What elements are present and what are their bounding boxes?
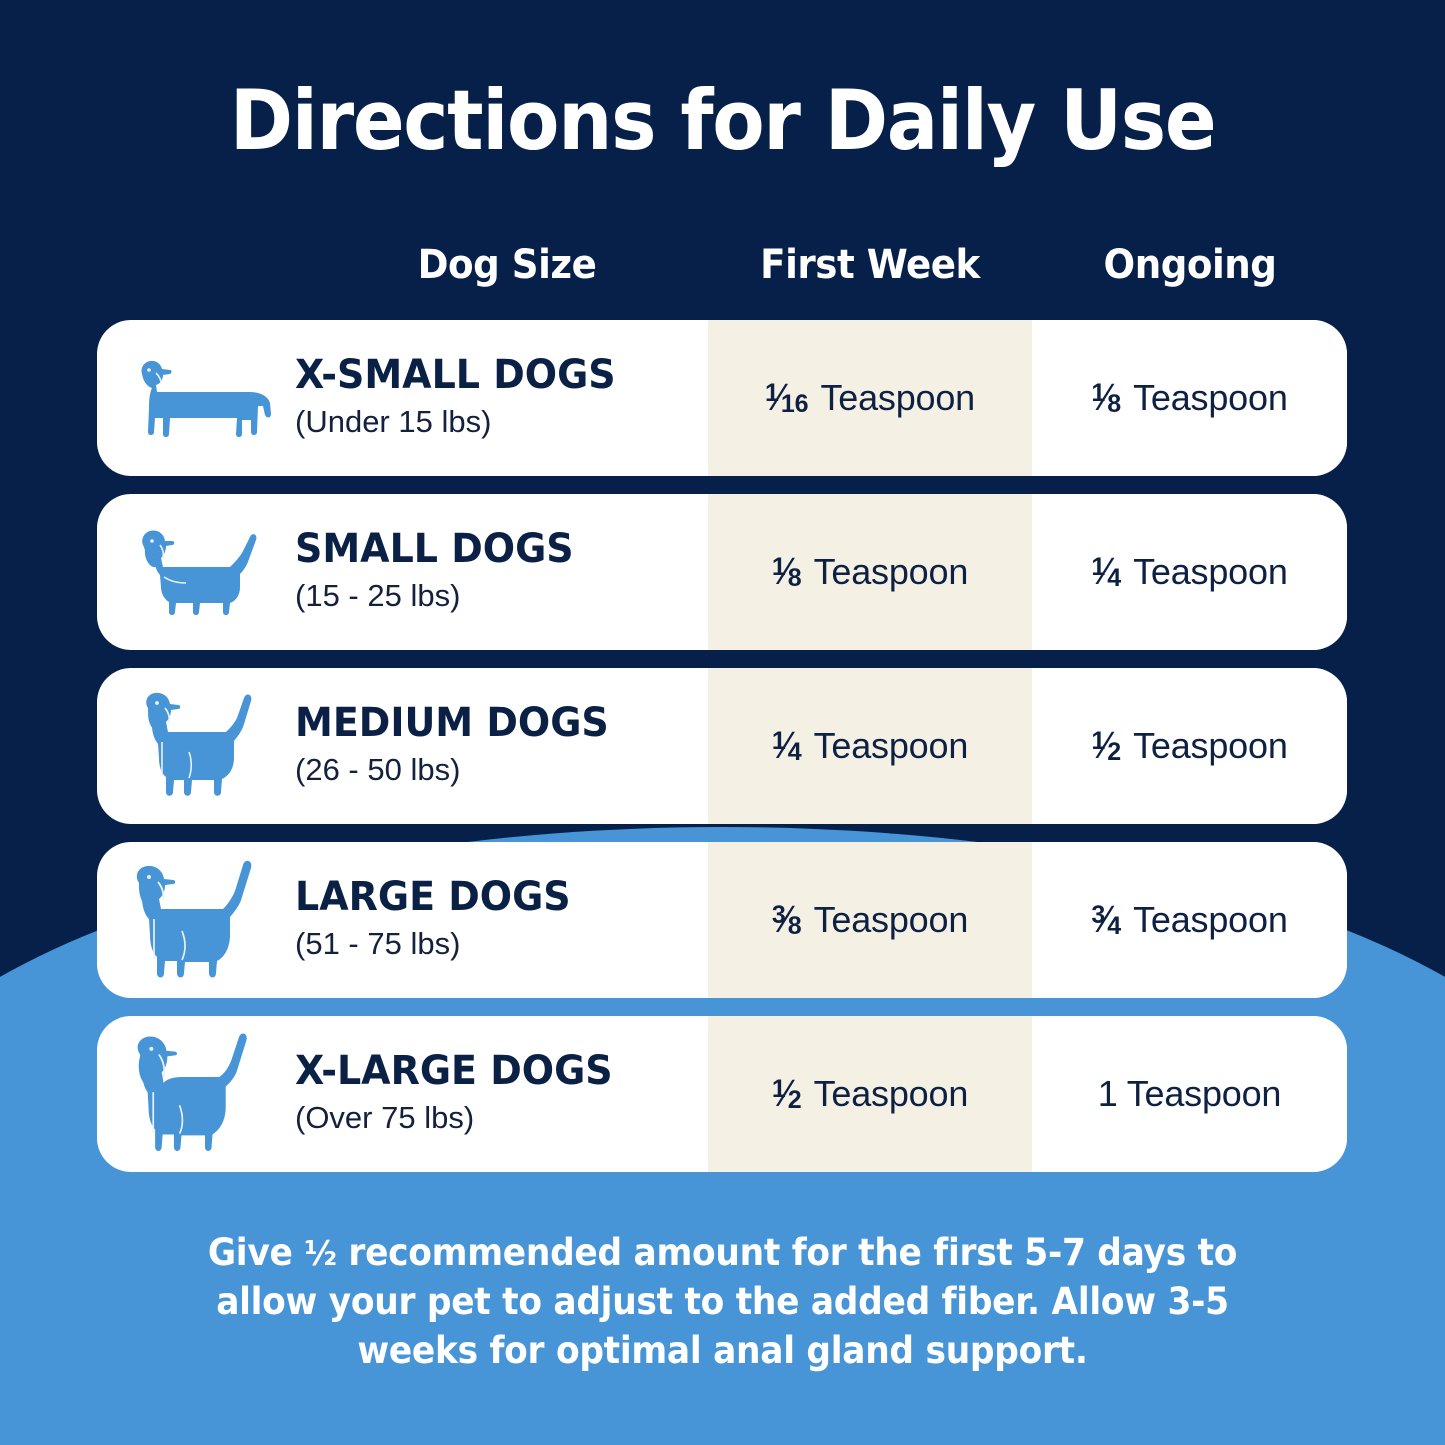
cell-ongoing: 1⁄2 Teaspoon <box>1032 668 1347 824</box>
infographic-root: Directions for Daily Use Dog Size First … <box>0 0 1445 1445</box>
dog-size-text: X-LARGE DOGS (Over 75 lbs) <box>295 1049 629 1138</box>
cell-ongoing: 1⁄4 Teaspoon <box>1032 494 1347 650</box>
table-row: X-LARGE DOGS (Over 75 lbs) 1⁄2 Teaspoon … <box>97 1016 1347 1172</box>
dog-size-text: X-SMALL DOGS (Under 15 lbs) <box>295 353 633 442</box>
cell-first-week: 1⁄2 Teaspoon <box>708 1016 1032 1172</box>
dog-size-name: X-SMALL DOGS <box>295 353 616 397</box>
cell-first-week: 1⁄4 Teaspoon <box>708 668 1032 824</box>
cell-dog-size: LARGE DOGS (51 - 75 lbs) <box>97 842 708 998</box>
dose-first-week: 3⁄8 Teaspoon <box>772 899 968 942</box>
cell-ongoing: 3⁄4 Teaspoon <box>1032 842 1347 998</box>
dose-first-week: 1⁄8 Teaspoon <box>772 551 968 594</box>
bloodhound-dog-icon <box>125 1034 285 1154</box>
dose-ongoing: 1⁄2 Teaspoon <box>1091 725 1287 768</box>
basset-hound-dog-icon <box>125 512 285 632</box>
cell-dog-size: X-LARGE DOGS (Over 75 lbs) <box>97 1016 708 1172</box>
dose-ongoing: 1⁄8 Teaspoon <box>1091 377 1287 420</box>
cell-dog-size: SMALL DOGS (15 - 25 lbs) <box>97 494 708 650</box>
footer-note: Give ½ recommended amount for the first … <box>190 1228 1255 1376</box>
cell-first-week: 1⁄8 Teaspoon <box>708 494 1032 650</box>
footer-half-fraction: ½ <box>304 1234 336 1274</box>
table-row: LARGE DOGS (51 - 75 lbs) 3⁄8 Teaspoon 3⁄… <box>97 842 1347 998</box>
dog-weight-range: (15 - 25 lbs) <box>295 576 588 616</box>
header-first-week: First Week <box>719 242 1020 288</box>
dose-first-week: 1⁄4 Teaspoon <box>772 725 968 768</box>
dog-weight-range: (Under 15 lbs) <box>295 402 633 442</box>
cell-first-week: 3⁄8 Teaspoon <box>708 842 1032 998</box>
dog-weight-range: (Over 75 lbs) <box>295 1098 629 1138</box>
page-title: Directions for Daily Use <box>58 72 1387 169</box>
dog-size-name: SMALL DOGS <box>295 527 574 571</box>
dose-first-week: 1⁄2 Teaspoon <box>772 1073 968 1116</box>
dog-size-text: MEDIUM DOGS (26 - 50 lbs) <box>295 701 625 790</box>
dachshund-dog-icon <box>125 338 285 458</box>
dose-first-week: 1⁄16 Teaspoon <box>765 377 975 420</box>
table-row: SMALL DOGS (15 - 25 lbs) 1⁄8 Teaspoon 1⁄… <box>97 494 1347 650</box>
header-dog-size: Dog Size <box>321 242 693 288</box>
beagle-dog-icon <box>125 686 285 806</box>
dosage-table: X-SMALL DOGS (Under 15 lbs) 1⁄16 Teaspoo… <box>97 320 1347 1190</box>
dose-ongoing: 3⁄4 Teaspoon <box>1091 899 1287 942</box>
dog-size-name: MEDIUM DOGS <box>295 701 609 745</box>
dog-weight-range: (51 - 75 lbs) <box>295 924 585 964</box>
dog-weight-range: (26 - 50 lbs) <box>295 750 625 790</box>
dog-size-text: LARGE DOGS (51 - 75 lbs) <box>295 875 585 964</box>
pointer-dog-icon <box>125 860 285 980</box>
header-ongoing: Ongoing <box>1043 242 1337 288</box>
dog-size-name: X-LARGE DOGS <box>295 1049 613 1093</box>
cell-ongoing: 1⁄8 Teaspoon <box>1032 320 1347 476</box>
table-row: MEDIUM DOGS (26 - 50 lbs) 1⁄4 Teaspoon 1… <box>97 668 1347 824</box>
dose-ongoing: 1⁄4 Teaspoon <box>1091 551 1287 594</box>
footer-line1-pre: Give <box>208 1231 304 1274</box>
footer-line3: optimal anal gland support. <box>556 1329 1088 1372</box>
dog-size-text: SMALL DOGS (15 - 25 lbs) <box>295 527 588 616</box>
column-headers: Dog Size First Week Ongoing <box>97 242 1347 304</box>
cell-dog-size: MEDIUM DOGS (26 - 50 lbs) <box>97 668 708 824</box>
table-row: X-SMALL DOGS (Under 15 lbs) 1⁄16 Teaspoo… <box>97 320 1347 476</box>
dose-ongoing: 1 Teaspoon <box>1098 1073 1282 1115</box>
cell-ongoing: 1 Teaspoon <box>1032 1016 1347 1172</box>
dog-size-name: LARGE DOGS <box>295 875 571 919</box>
cell-first-week: 1⁄16 Teaspoon <box>708 320 1032 476</box>
cell-dog-size: X-SMALL DOGS (Under 15 lbs) <box>97 320 708 476</box>
